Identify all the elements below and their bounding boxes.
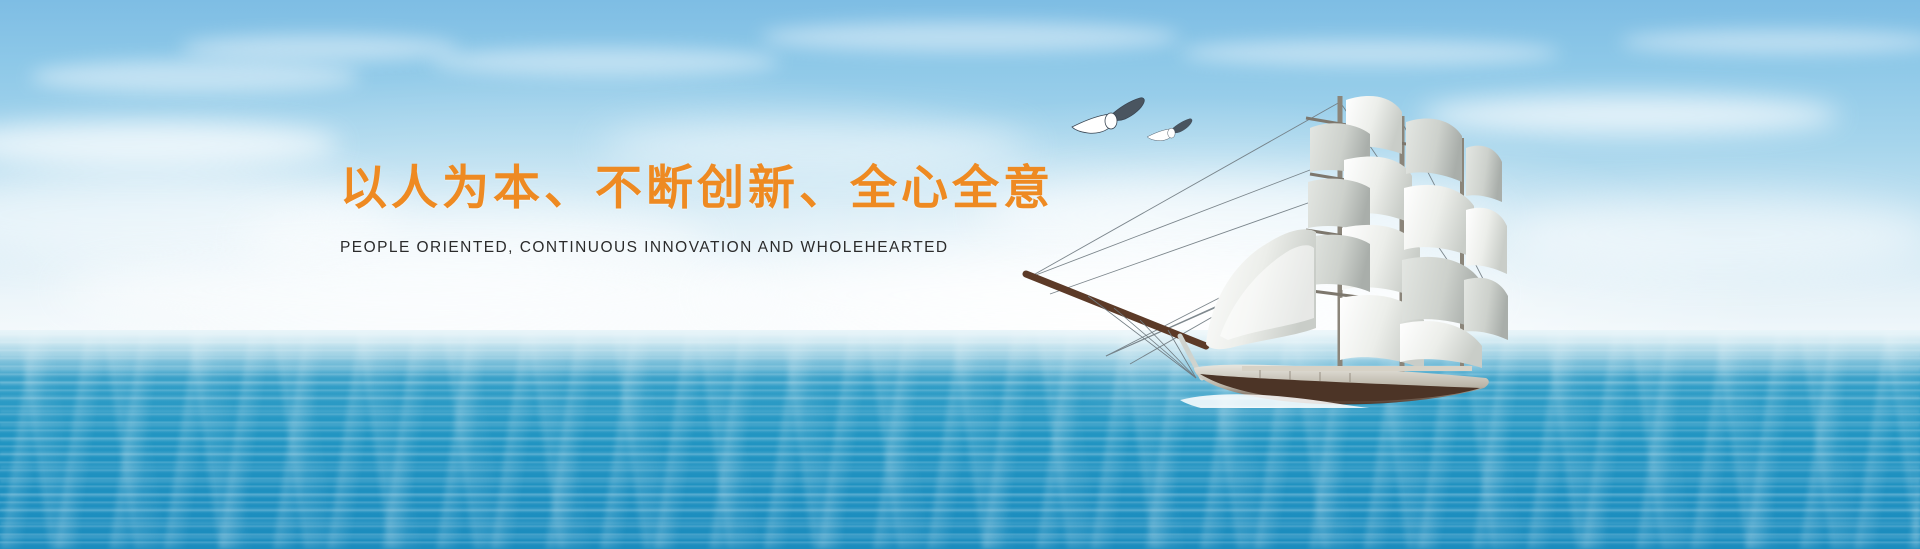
cloud-shape [1500, 195, 1920, 273]
banner-text-block: 以人为本、不断创新、全心全意 PEOPLE ORIENTED, CONTINUO… [340, 160, 940, 257]
cloud-shape [760, 22, 1180, 52]
cloud-shape [1180, 40, 1560, 66]
sailing-ship [1010, 78, 1510, 408]
cloud-shape [1620, 30, 1920, 54]
cloud-shape [430, 48, 780, 76]
cloud-shape [60, 255, 760, 325]
page-title: 以人为本、不断创新、全心全意 [340, 160, 940, 219]
page-subtitle: PEOPLE ORIENTED, CONTINUOUS INNOVATION A… [340, 239, 940, 257]
cloud-shape [30, 60, 360, 94]
hero-banner: 以人为本、不断创新、全心全意 PEOPLE ORIENTED, CONTINUO… [0, 0, 1920, 549]
cloud-shape [0, 120, 340, 168]
bowsprit [1026, 274, 1206, 378]
sea-background [0, 330, 1920, 549]
cloud-shape [180, 35, 460, 61]
